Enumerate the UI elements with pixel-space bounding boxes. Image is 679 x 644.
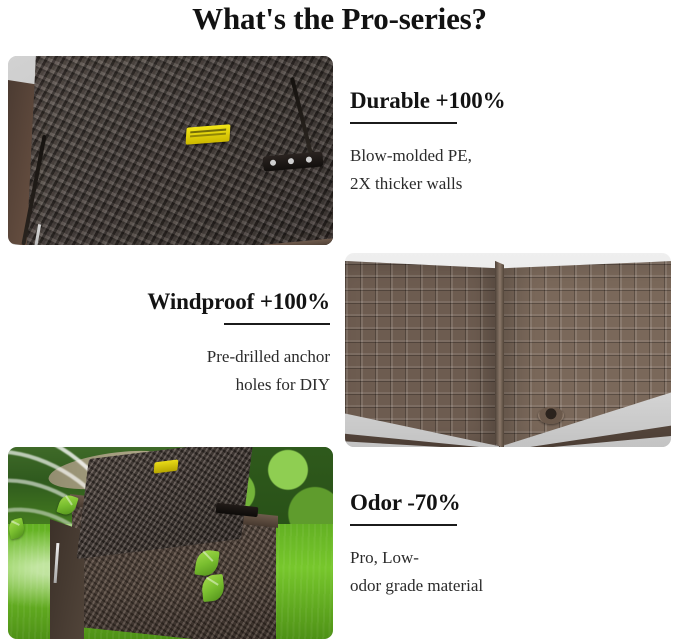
pre-drilled-anchor-hole bbox=[538, 407, 564, 424]
yellow-warning-label bbox=[186, 124, 231, 145]
heading-rule bbox=[224, 323, 330, 325]
feature-text-durable: Durable +100% Blow-molded PE, 2X thicker… bbox=[350, 88, 570, 197]
feature-image-durable bbox=[8, 56, 333, 245]
body-line: Blow-molded PE, bbox=[350, 142, 570, 170]
lid-rattan-weave bbox=[25, 56, 333, 245]
page-title: What's the Pro-series? bbox=[0, 1, 679, 37]
feature-image-odor bbox=[8, 447, 333, 639]
box-corner-edge bbox=[495, 259, 504, 447]
feature-body-windproof: Pre-drilled anchor holes for DIY bbox=[118, 343, 330, 398]
body-line: odor grade material bbox=[350, 572, 570, 600]
feature-text-windproof: Windproof +100% Pre-drilled anchor holes… bbox=[118, 289, 330, 398]
feature-heading-durable: Durable +100% bbox=[350, 88, 570, 114]
body-line: Pre-drilled anchor bbox=[118, 343, 330, 371]
feature-body-odor: Pro, Low- odor grade material bbox=[350, 544, 570, 599]
heading-rule bbox=[350, 524, 457, 526]
feature-heading-odor: Odor -70% bbox=[350, 490, 570, 516]
body-line: holes for DIY bbox=[118, 371, 330, 399]
heading-rule bbox=[350, 122, 457, 124]
feature-text-odor: Odor -70% Pro, Low- odor grade material bbox=[350, 490, 570, 599]
body-line: Pro, Low- bbox=[350, 544, 570, 572]
feature-heading-windproof: Windproof +100% bbox=[118, 289, 330, 315]
box-lid bbox=[25, 56, 333, 245]
feature-body-durable: Blow-molded PE, 2X thicker walls bbox=[350, 142, 570, 197]
feature-image-windproof bbox=[345, 253, 671, 447]
body-line: 2X thicker walls bbox=[350, 170, 570, 198]
